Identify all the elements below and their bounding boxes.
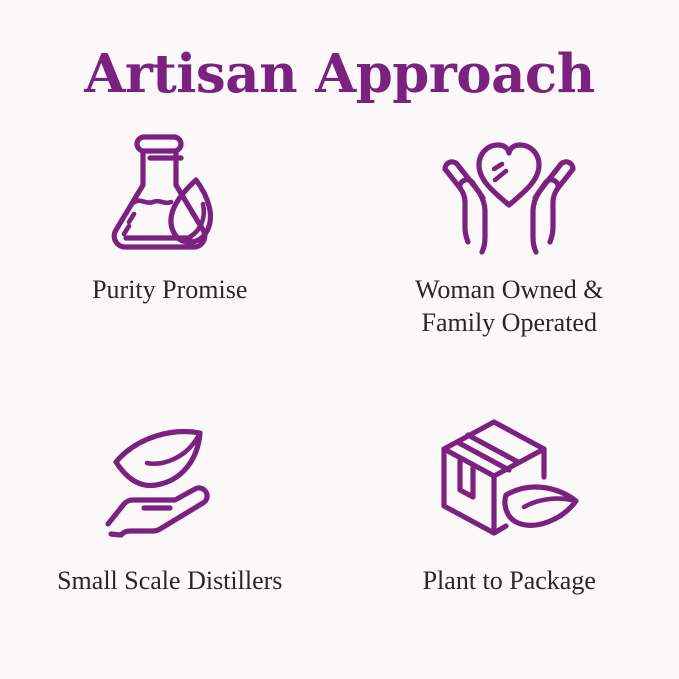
box-leaf-icon: [434, 412, 584, 544]
feature-label: Purity Promise: [92, 257, 247, 306]
feature-item-woman-owned: Woman Owned & Family Operated: [340, 125, 679, 402]
hand-leaf-icon: [95, 412, 245, 544]
feature-item-purity-promise: Purity Promise: [0, 125, 340, 402]
flask-leaf-icon: [95, 125, 245, 257]
artisan-approach-infographic: Artisan Approach: [0, 0, 679, 679]
feature-item-small-scale-distillers: Small Scale Distillers: [0, 402, 340, 679]
feature-item-plant-to-package: Plant to Package: [340, 402, 679, 679]
feature-label: Small Scale Distillers: [57, 544, 282, 597]
feature-label: Woman Owned & Family Operated: [415, 257, 604, 340]
page-title: Artisan Approach: [84, 0, 594, 103]
hands-heart-icon: [434, 125, 584, 257]
feature-label: Plant to Package: [423, 544, 596, 597]
feature-grid: Purity Promise: [0, 103, 679, 679]
